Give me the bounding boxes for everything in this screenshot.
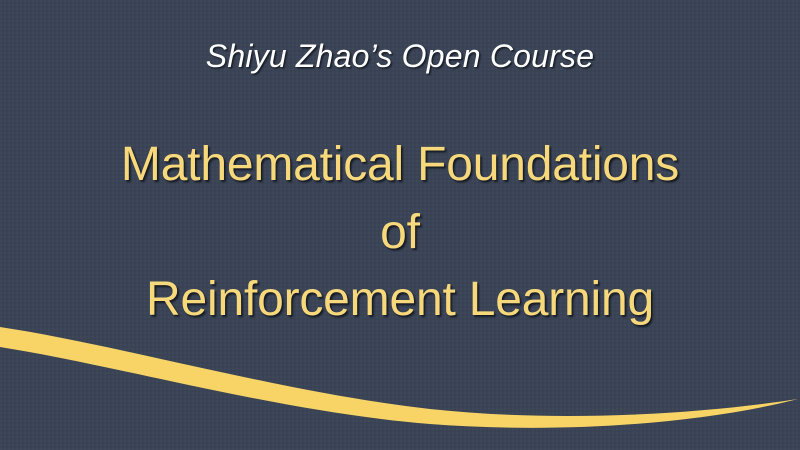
title-slide: Shiyu Zhao’s Open Course Mathematical Fo… <box>0 0 800 450</box>
title-line-3: Reinforcement Learning <box>0 272 800 327</box>
course-subtitle: Shiyu Zhao’s Open Course <box>0 38 800 75</box>
title-line-1: Mathematical Foundations <box>0 137 800 192</box>
slide-text-block: Shiyu Zhao’s Open Course Mathematical Fo… <box>0 0 800 450</box>
title-line-2: of <box>0 205 800 260</box>
